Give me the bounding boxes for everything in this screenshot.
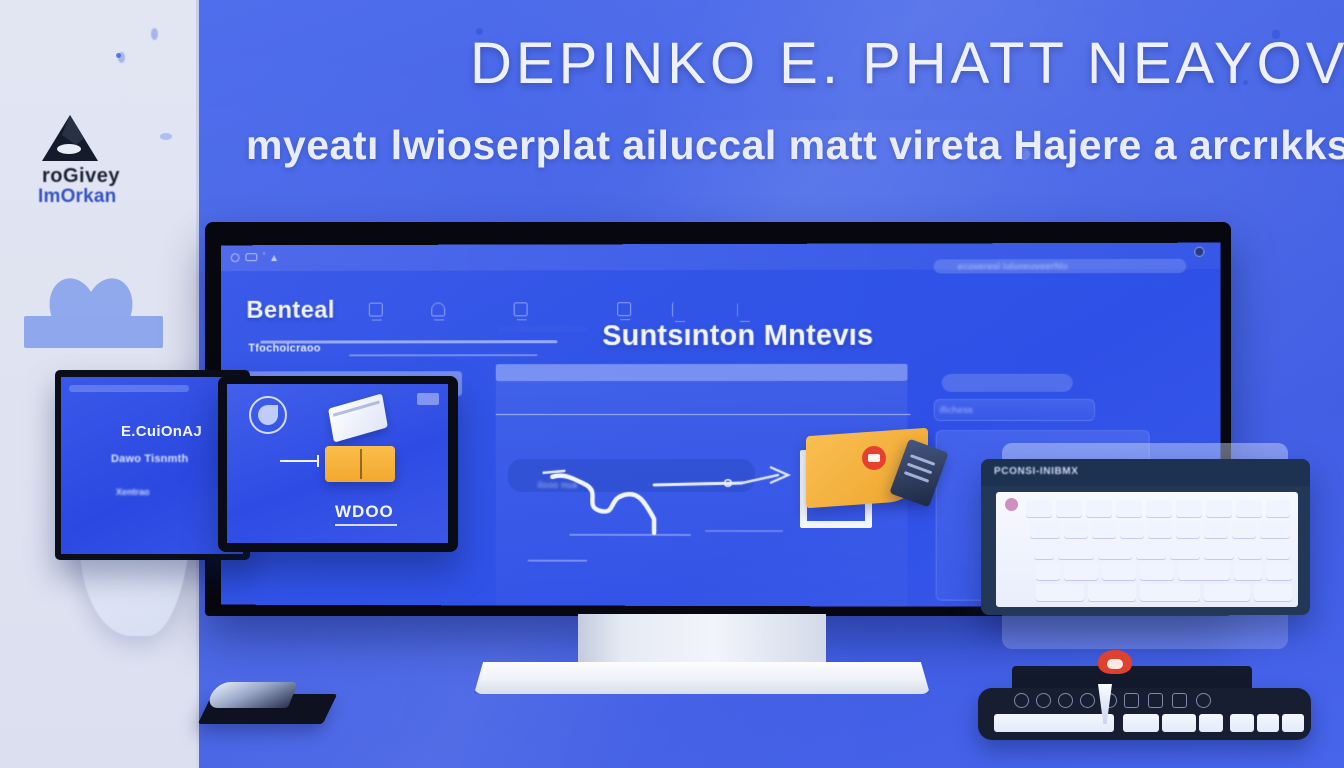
console-button[interactable] — [1058, 693, 1073, 708]
speck — [151, 28, 158, 40]
console-key[interactable] — [1257, 714, 1279, 732]
card-line — [904, 471, 929, 483]
window-title: PCONSI-INIBMX — [994, 466, 1078, 477]
red-seal-icon — [862, 446, 886, 470]
thin-line — [569, 534, 691, 536]
keyboard-key[interactable] — [1204, 542, 1234, 559]
dark-keyboard-console — [978, 666, 1311, 740]
keyboard-key[interactable] — [1036, 563, 1060, 580]
keyboard-key[interactable] — [1206, 500, 1232, 517]
keyboard-key[interactable] — [1204, 584, 1250, 601]
hero-progress-bar — [496, 364, 908, 381]
triangle-icon[interactable]: ▴ — [271, 250, 277, 264]
leaf-circle-icon — [249, 396, 287, 434]
folder-icon[interactable] — [369, 303, 383, 317]
keyboard-key[interactable] — [1064, 563, 1098, 580]
keyboard-key[interactable] — [1034, 542, 1054, 559]
monitor-stand-base — [474, 662, 930, 694]
decorative-plant — [24, 278, 164, 348]
keyboard-key[interactable] — [1204, 521, 1228, 538]
keyboard-key[interactable] — [1140, 563, 1174, 580]
keyboard-key[interactable] — [1266, 500, 1290, 517]
laptop-screen-topline — [69, 385, 189, 392]
console-key[interactable] — [1162, 714, 1196, 732]
ghost-pill — [942, 374, 1073, 392]
plant-pot — [24, 316, 163, 348]
toggle-badge[interactable] — [417, 393, 439, 405]
keyboard-key[interactable] — [1146, 500, 1172, 517]
console-key-wide[interactable] — [994, 714, 1114, 732]
screen-hero-heading: Suntsınton Mntevıs — [602, 320, 873, 353]
orange-envelope — [800, 432, 938, 532]
onscreen-keyboard[interactable] — [996, 492, 1298, 607]
ghost-stat — [498, 326, 588, 332]
laptop-subtitle: Dawo Tisnmth — [111, 453, 188, 465]
illustration-canvas: roGivey ImOrkan DEPINKO E. PHATT NEAYOV.… — [0, 0, 1344, 768]
tick-icon: ' — [263, 252, 265, 263]
keyboard-key[interactable] — [1092, 521, 1116, 538]
app-brand-label: Benteal — [246, 297, 334, 325]
hero-subheadline: myeatı lwioserplat ailuccal matt vireta … — [246, 125, 1344, 166]
keyboard-key[interactable] — [1254, 584, 1292, 601]
console-button[interactable] — [1196, 693, 1211, 708]
keyboard-key[interactable] — [1148, 521, 1172, 538]
keyboard-key[interactable] — [1238, 542, 1262, 559]
logo-text-line2: ImOrkan — [38, 186, 186, 208]
monitor-stand-neck — [578, 614, 826, 664]
keyboard-spacebar[interactable] — [1140, 584, 1200, 601]
speck — [116, 53, 121, 58]
keyboard-key[interactable] — [1026, 500, 1052, 517]
keyboard-key[interactable] — [1102, 563, 1136, 580]
orange-card-icon — [325, 446, 395, 482]
hero-divider — [496, 414, 911, 415]
tablet-word-label: WDOO — [335, 502, 394, 522]
tablet-device: WDOO — [218, 376, 458, 552]
keyboard-key[interactable] — [1088, 584, 1136, 601]
ghost-row-text: ifichess — [940, 405, 973, 415]
window-titlebar: PCONSI-INIBMX — [981, 459, 1310, 486]
mountain-triangle-icon — [40, 113, 100, 169]
keyboard-key[interactable] — [1086, 500, 1112, 517]
laptop-screen: E.CuiOnAJ Dawo Tisnmth Xentrao — [61, 377, 243, 554]
logo-text-line1: roGivey — [42, 165, 186, 188]
arrow-icon — [280, 460, 318, 462]
dark-mouse — [205, 682, 330, 728]
keyboard-key[interactable] — [1116, 500, 1142, 517]
console-key[interactable] — [1123, 714, 1159, 732]
console-button[interactable] — [1080, 693, 1095, 708]
console-key[interactable] — [1282, 714, 1304, 732]
console-button[interactable] — [1124, 693, 1139, 708]
keyboard-key[interactable] — [1056, 500, 1082, 517]
keyboard-key[interactable] — [1176, 500, 1202, 517]
circle-icon[interactable] — [231, 253, 240, 262]
keyboard-key[interactable] — [1098, 542, 1132, 559]
ghost-toolbar-text: ecoveresl lolonnoveerhlo — [958, 261, 1068, 271]
console-body — [978, 688, 1311, 740]
console-button[interactable] — [1014, 693, 1029, 708]
topbar-controls[interactable]: ' ▴ — [231, 250, 277, 264]
keyboard-key[interactable] — [1176, 521, 1200, 538]
keyboard-key[interactable] — [1036, 584, 1084, 601]
keyboard-key[interactable] — [1058, 542, 1094, 559]
user-icon[interactable] — [431, 303, 445, 317]
thin-line — [705, 530, 783, 532]
keyboard-key[interactable] — [1232, 521, 1256, 538]
keyboard-key[interactable] — [1170, 542, 1200, 559]
tablet-word-underline — [335, 524, 397, 526]
console-button[interactable] — [1172, 693, 1187, 708]
red-marker-icon — [1098, 650, 1132, 674]
keyboard-key[interactable] — [1266, 563, 1292, 580]
divider-icon — [737, 303, 741, 317]
thin-line — [528, 560, 588, 562]
keyboard-spacebar[interactable] — [1178, 563, 1230, 580]
right-tablet-window: PCONSI-INIBMX — [981, 459, 1310, 615]
tablet-screen: WDOO — [227, 384, 448, 543]
square-icon[interactable] — [245, 253, 257, 261]
keyboard-key[interactable] — [1030, 521, 1060, 538]
pin-icon[interactable] — [672, 302, 678, 317]
keyboard-key[interactable] — [1260, 521, 1290, 538]
keyboard-key[interactable] — [1136, 542, 1166, 559]
keyboard-key[interactable] — [1064, 521, 1088, 538]
brand-logo[interactable]: roGivey ImOrkan — [36, 113, 186, 208]
console-key[interactable] — [1199, 714, 1223, 732]
chart-icon[interactable] — [617, 302, 631, 316]
screen-sublabel: Tfochoicraoo — [248, 342, 320, 354]
paper-stack-icon — [328, 393, 388, 442]
console-key[interactable] — [1230, 714, 1254, 732]
keyboard-key[interactable] — [1266, 542, 1290, 559]
keyboard-key[interactable] — [1236, 500, 1262, 517]
camera-icon — [1194, 247, 1204, 257]
laptop-title: E.CuiOnAJ — [121, 423, 202, 440]
keyboard-key[interactable] — [1234, 563, 1262, 580]
tablet-body: WDOO — [218, 376, 458, 552]
header-underline-secondary — [349, 354, 537, 356]
mouse-top-shell — [206, 682, 299, 708]
console-button[interactable] — [1148, 693, 1163, 708]
keyboard-key[interactable] — [1120, 521, 1144, 538]
console-button[interactable] — [1036, 693, 1051, 708]
record-dot-icon[interactable] — [1005, 498, 1018, 511]
hero-headline: DEPINKO E. PHATT NEAYOV. — [470, 35, 1330, 93]
ghost-caption: ilooo nua — [538, 480, 578, 490]
flag-icon[interactable] — [514, 302, 528, 316]
laptop-caption: Xentrao — [116, 487, 150, 497]
